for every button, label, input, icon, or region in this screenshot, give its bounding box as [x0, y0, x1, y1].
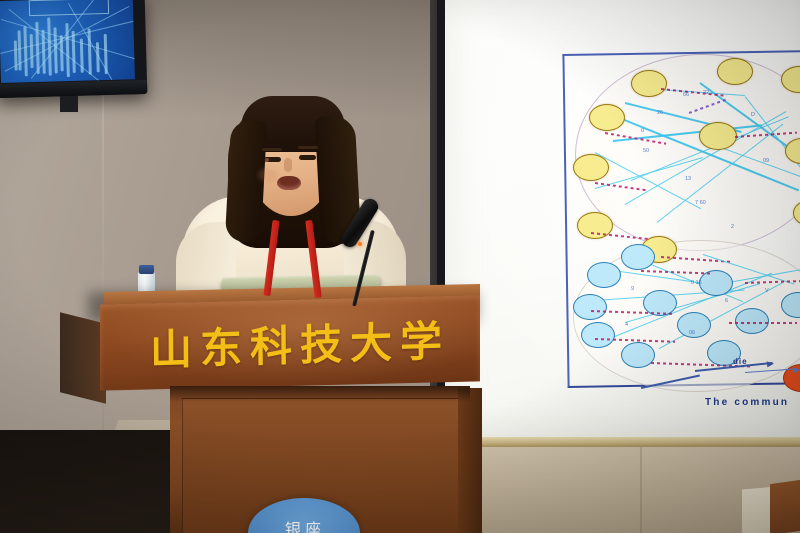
- projection-screen: 66 22 26 50 13 7 60 2 09 D 0: [445, 0, 800, 440]
- speaker-eyebrow-left: [262, 148, 282, 151]
- graph-node: [573, 294, 607, 320]
- graph-node: [699, 122, 737, 150]
- graph-node: [621, 244, 655, 270]
- wall-mounted-display: [0, 0, 147, 98]
- slide-axis-label: die: [733, 357, 748, 366]
- speaker-mouth: [277, 176, 301, 190]
- speaker-hair-left: [225, 119, 267, 243]
- graph-node: [581, 322, 615, 348]
- slide-caption: The commun: [705, 397, 789, 408]
- graph-node: [735, 308, 769, 334]
- speaker-cheek-shading: [258, 168, 278, 182]
- graph-node: [589, 104, 625, 131]
- water-bottle-cap: [139, 265, 154, 274]
- display-screen-content: [0, 0, 135, 83]
- lectern-university-name: 山东科技大学: [150, 307, 450, 378]
- graph-node: [717, 58, 753, 85]
- slide-arrow-head-right: [793, 367, 800, 373]
- stage-wall-seam: [640, 447, 642, 533]
- speaker-eyebrow-right: [298, 146, 318, 149]
- graph-node: [573, 154, 609, 181]
- microphone-led-indicator: [358, 242, 362, 246]
- graph-node: [631, 70, 667, 97]
- lectern-base-top-shadow: [170, 386, 470, 402]
- graph-node: [587, 262, 621, 288]
- lectern-base-right-face: [458, 388, 482, 533]
- side-table-wood-edge: [770, 480, 800, 533]
- stage-metal-trim: [430, 437, 800, 447]
- graph-node: [621, 342, 655, 368]
- stage-shadow-left: [0, 430, 180, 533]
- display-wall-mount: [60, 96, 78, 112]
- speaker-mole: [265, 158, 269, 162]
- lectern-emblem-text: 银座: [258, 516, 352, 533]
- speaker-eye-right: [299, 155, 316, 160]
- speaker-nose: [284, 158, 292, 172]
- presentation-scene-photo: 66 22 26 50 13 7 60 2 09 D 0: [0, 0, 800, 533]
- slide-arrow-head: [767, 361, 775, 368]
